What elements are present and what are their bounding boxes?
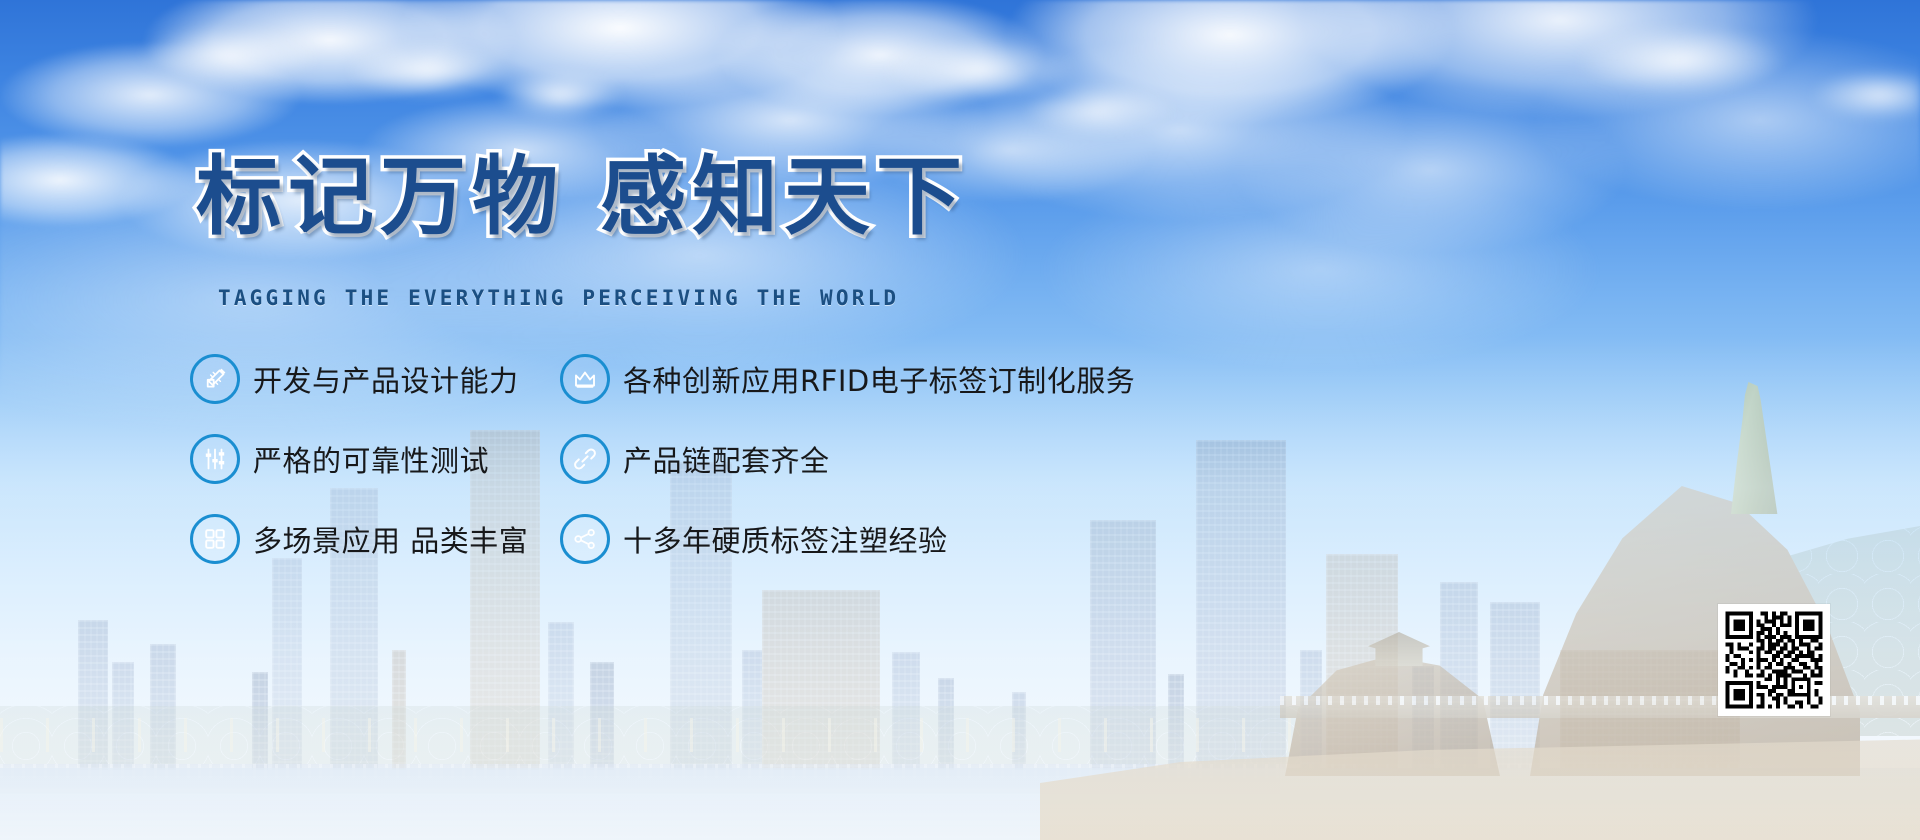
feature-item-injection-experience: 十多年硬质标签注塑经验 <box>560 508 1490 570</box>
feature-row: 多场景应用 品类丰富 <box>190 508 1490 588</box>
feature-row: 严格的可靠性测试 <box>190 428 1490 508</box>
feature-label: 十多年硬质标签注塑经验 <box>623 518 948 560</box>
feature-list: 开发与产品设计能力 各种创新应用RFID电子标签订制化服务 <box>190 348 1490 588</box>
link-icon <box>560 434 610 484</box>
feature-item-multi-scenario: 多场景应用 品类丰富 <box>190 508 560 570</box>
share-nodes-icon <box>560 514 610 564</box>
feature-label: 多场景应用 品类丰富 <box>253 518 528 560</box>
grid-squares-icon <box>190 514 240 564</box>
feature-item-product-chain: 产品链配套齐全 <box>560 428 1490 490</box>
feature-row: 开发与产品设计能力 各种创新应用RFID电子标签订制化服务 <box>190 348 1490 428</box>
page-subtitle: TAGGING THE EVERYTHING PERCEIVING THE WO… <box>218 286 899 310</box>
feature-label: 严格的可靠性测试 <box>253 438 489 480</box>
sliders-icon <box>190 434 240 484</box>
feature-label: 各种创新应用RFID电子标签订制化服务 <box>623 358 1135 400</box>
crown-icon <box>560 354 610 404</box>
page-title: 标记万物 感知天下 <box>196 154 968 240</box>
qr-code[interactable] <box>1718 604 1830 716</box>
promotional-banner: 标记万物 感知天下 TAGGING THE EVERYTHING PERCEIV… <box>0 0 1920 840</box>
feature-item-design-capability: 开发与产品设计能力 <box>190 348 560 410</box>
feature-item-rfid-customization: 各种创新应用RFID电子标签订制化服务 <box>560 348 1490 410</box>
ruler-pencil-icon <box>190 354 240 404</box>
feature-label: 开发与产品设计能力 <box>253 358 519 400</box>
feature-label: 产品链配套齐全 <box>623 438 830 480</box>
feature-item-reliability-testing: 严格的可靠性测试 <box>190 428 560 490</box>
